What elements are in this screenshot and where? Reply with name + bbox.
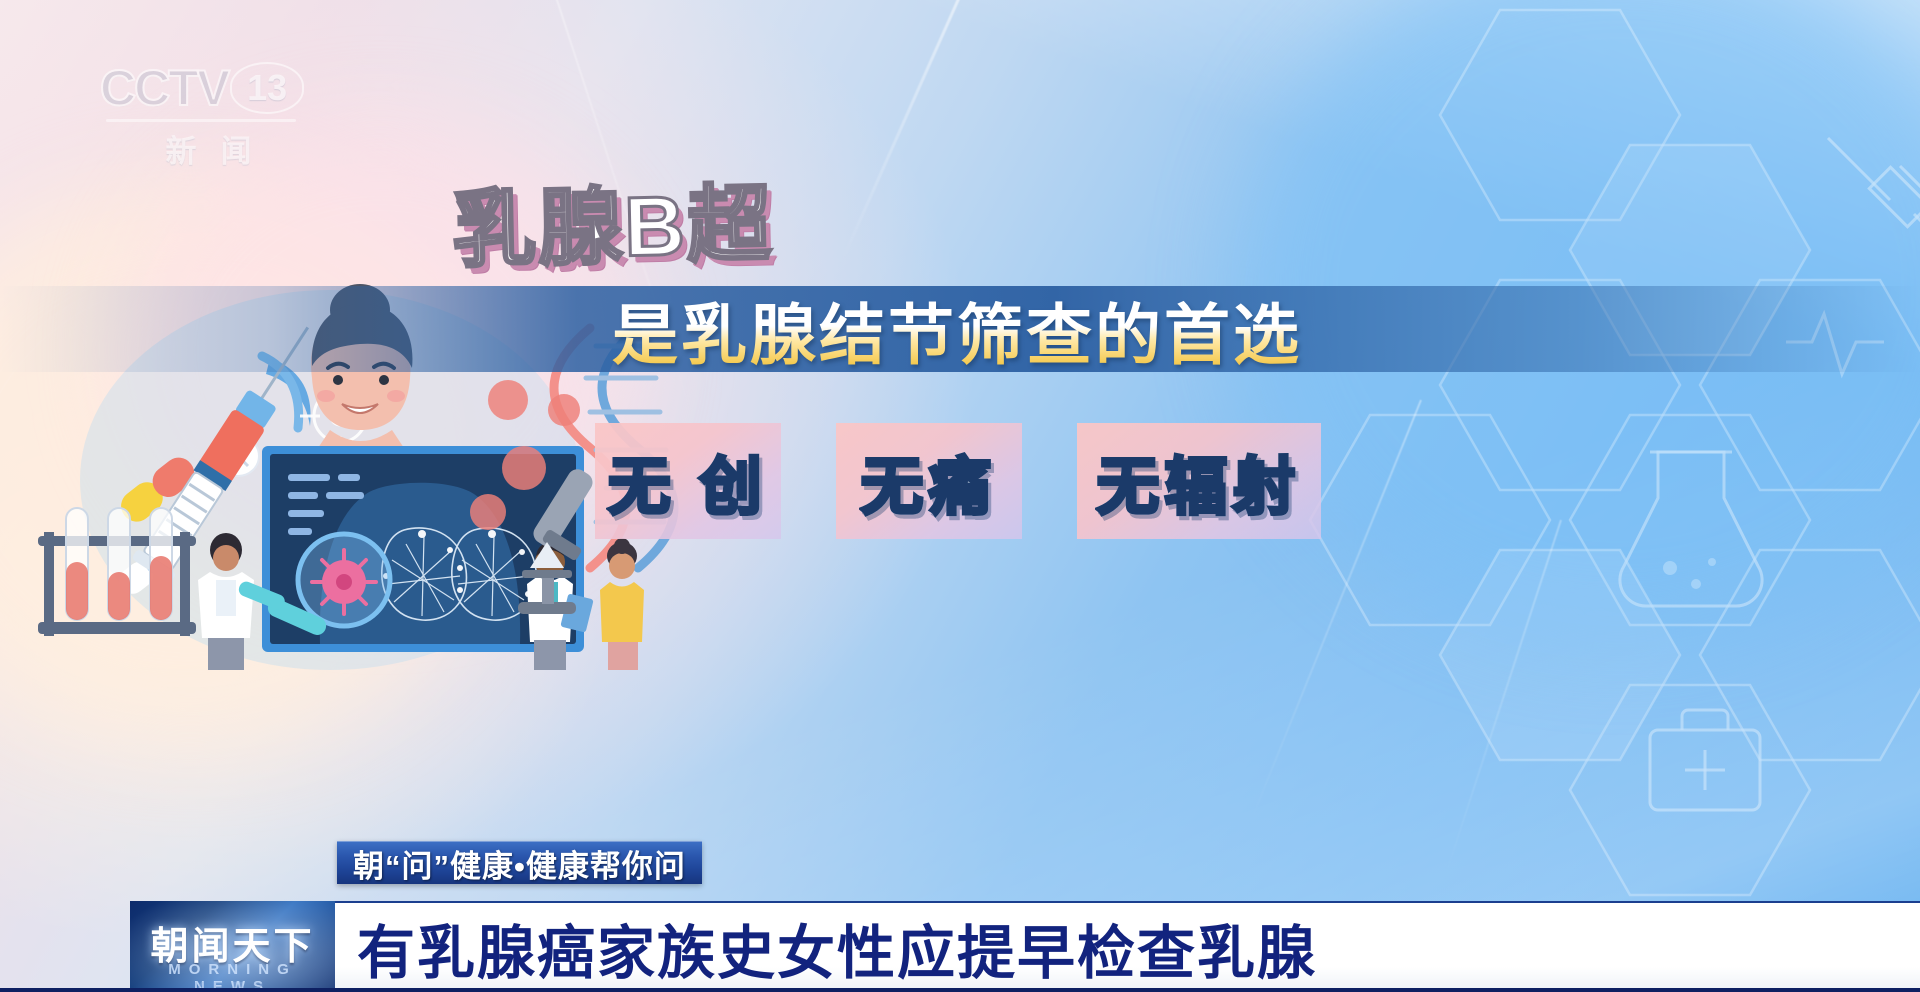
news-headline-text: 有乳腺癌家族史女性应提早检查乳腺 bbox=[335, 906, 1317, 990]
feature-box-2: 无痛 bbox=[836, 423, 1022, 539]
medical-case-icon bbox=[1650, 710, 1760, 810]
light-ray-1 bbox=[839, 0, 1013, 264]
syringe-icon bbox=[1828, 138, 1920, 242]
feature-label-1: 无 创 bbox=[608, 436, 767, 526]
logo-underline bbox=[106, 119, 296, 122]
feature-label-3: 无辐射 bbox=[1097, 436, 1301, 526]
tumor-cell bbox=[312, 550, 376, 614]
topic-label: 朝“问”健康•健康帮你问 bbox=[353, 841, 686, 886]
channel-number: 13 bbox=[230, 62, 304, 114]
channel-number-badge: 13 bbox=[230, 62, 304, 114]
graphic-title: 乳腺B超 bbox=[451, 157, 774, 285]
cctv-wordmark: CCTV bbox=[100, 63, 228, 113]
program-logo: 朝闻天下 MORNING NEWS MORNING NEWS bbox=[130, 901, 335, 992]
topic-banner: 朝“问”健康•健康帮你问 bbox=[337, 841, 702, 884]
feature-boxes: 无 创 无痛 无辐射 bbox=[595, 423, 1321, 539]
feature-box-1: 无 创 bbox=[595, 423, 781, 539]
news-headline-bar: 有乳腺癌家族史女性应提早检查乳腺 bbox=[335, 901, 1920, 992]
feature-label-2: 无痛 bbox=[861, 436, 997, 526]
feature-box-3: 无辐射 bbox=[1077, 423, 1321, 539]
broadcast-screen: CCTV 13 新闻 bbox=[0, 0, 1920, 992]
graphic-subtitle: 是乳腺结节筛查的首选 bbox=[612, 282, 1302, 378]
bottom-strip bbox=[0, 988, 1920, 992]
